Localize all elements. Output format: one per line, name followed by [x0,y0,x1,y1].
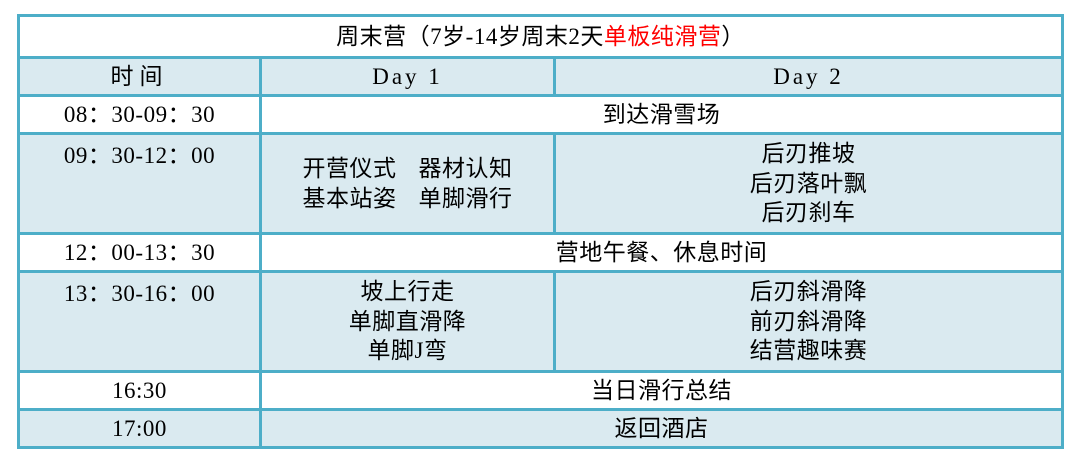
title-highlight: 单板纯滑营 [604,24,722,49]
activity-item: 器材认知 [419,156,513,181]
row-time: 16:30 [19,372,261,410]
table-row: 16:30 当日滑行总结 [19,372,1063,410]
activity-item: 前刃斜滑降 [556,307,1061,336]
row-time: 17:00 [19,410,261,448]
column-header-day1: Day 1 [261,58,555,96]
activity-item: 单脚J弯 [262,336,553,365]
activity-item: 单脚滑行 [419,186,513,211]
row-day2-activities: 后刃斜滑降 前刃斜滑降 结营趣味赛 [555,272,1063,372]
row-day1-activities: 开营仪式器材认知 基本站姿单脚滑行 [261,134,555,234]
activity-item: 开营仪式 [303,156,397,181]
column-header-time: 时间 [19,58,261,96]
activity-item: 基本站姿 [303,186,397,211]
title-suffix: ） [721,24,745,49]
activity-item: 单脚直滑降 [262,307,553,336]
weekend-camp-schedule-table: 周末营（7岁-14岁周末2天单板纯滑营） 时间 Day 1 Day 2 08：3… [17,14,1064,449]
table-row: 12：00-13：30 营地午餐、休息时间 [19,234,1063,272]
schedule-sheet: 周末营（7岁-14岁周末2天单板纯滑营） 时间 Day 1 Day 2 08：3… [0,0,1080,471]
table-title-row: 周末营（7岁-14岁周末2天单板纯滑营） [19,16,1063,58]
row-merged-activity: 当日滑行总结 [261,372,1063,410]
row-merged-activity: 营地午餐、休息时间 [261,234,1063,272]
activity-item: 后刃推坡 [556,139,1061,168]
table-row: 09：30-12：00 开营仪式器材认知 基本站姿单脚滑行 后刃推坡 后刃落叶飘… [19,134,1063,234]
activity-item: 后刃落叶飘 [556,169,1061,198]
title-prefix: 周末营（7岁-14岁周末2天 [336,24,604,49]
activity-item: 坡上行走 [262,277,553,306]
schedule-title: 周末营（7岁-14岁周末2天单板纯滑营） [19,16,1063,58]
table-row: 17:00 返回酒店 [19,410,1063,448]
row-time: 13：30-16：00 [19,272,261,372]
activity-item: 后刃刹车 [556,198,1061,227]
row-time: 12：00-13：30 [19,234,261,272]
table-row: 13：30-16：00 坡上行走 单脚直滑降 单脚J弯 后刃斜滑降 前刃斜滑降 … [19,272,1063,372]
row-time: 08：30-09：30 [19,96,261,134]
activity-item: 后刃斜滑降 [556,277,1061,306]
table-row: 08：30-09：30 到达滑雪场 [19,96,1063,134]
row-day2-activities: 后刃推坡 后刃落叶飘 后刃刹车 [555,134,1063,234]
row-day1-activities: 坡上行走 单脚直滑降 单脚J弯 [261,272,555,372]
column-header-day2: Day 2 [555,58,1063,96]
activity-item: 结营趣味赛 [556,336,1061,365]
row-time: 09：30-12：00 [19,134,261,234]
row-merged-activity: 到达滑雪场 [261,96,1063,134]
table-header-row: 时间 Day 1 Day 2 [19,58,1063,96]
row-merged-activity: 返回酒店 [261,410,1063,448]
